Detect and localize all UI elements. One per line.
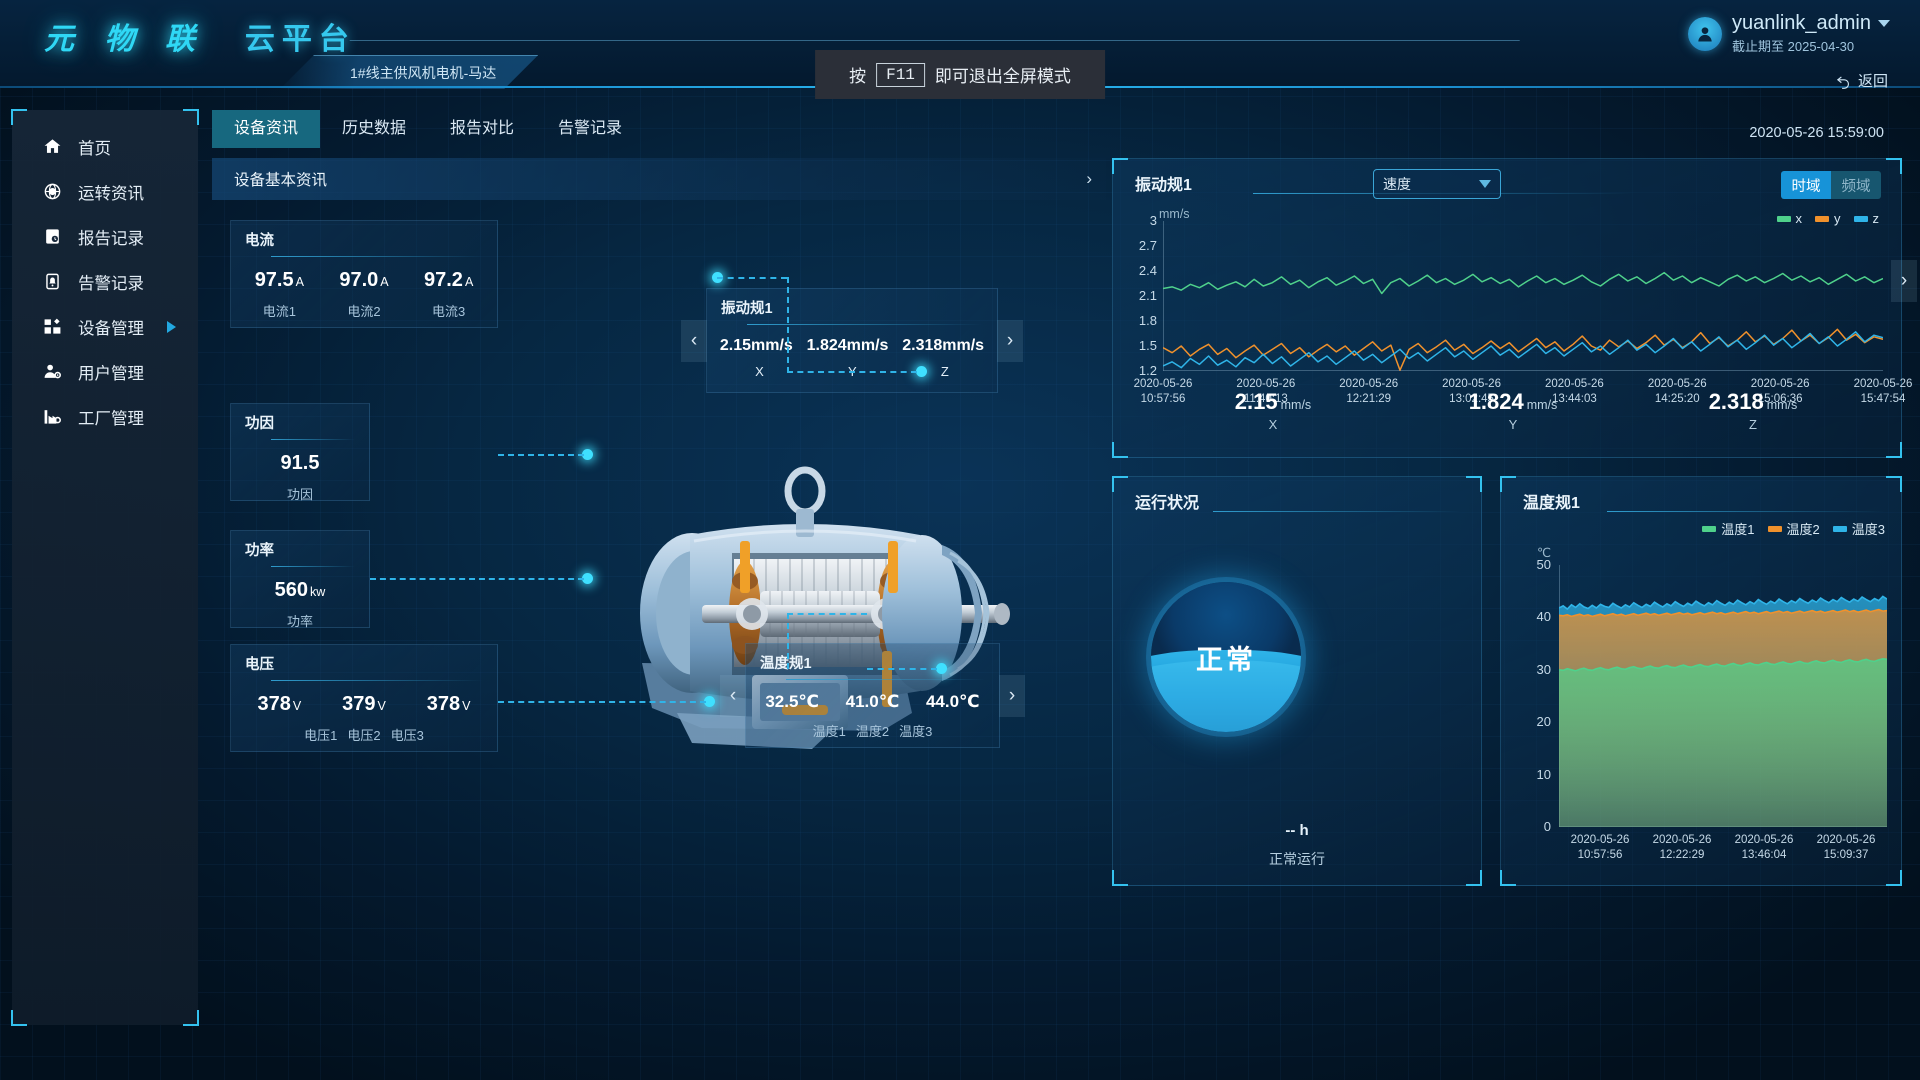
vibration-next-button[interactable]: › bbox=[997, 320, 1023, 362]
connector-line bbox=[787, 613, 789, 669]
value-unit: A bbox=[465, 275, 473, 289]
metric-labels: 电流1 电流2 电流3 bbox=[231, 292, 497, 332]
fullscreen-hint-suffix: 即可退出全屏模式 bbox=[935, 62, 1071, 87]
chevron-right-icon[interactable] bbox=[167, 321, 176, 333]
y-tick-label: 30 bbox=[1515, 662, 1551, 677]
sidebar-item-user-management[interactable]: 用户管理 bbox=[12, 349, 198, 394]
connector-line bbox=[787, 371, 917, 373]
metric-value: 44.0℃ bbox=[926, 692, 980, 712]
metric-value: 1.824mm/s bbox=[807, 337, 889, 355]
metric-values: 32.5℃ 41.0℃ 44.0℃ bbox=[746, 680, 999, 712]
sidebar-item-label: 用户管理 bbox=[78, 360, 144, 384]
y-tick-label: 3 bbox=[1119, 213, 1157, 228]
metric-labels: 功率 bbox=[231, 602, 369, 642]
corner-decoration bbox=[1112, 158, 1128, 174]
metric-values: 91.5 bbox=[231, 440, 369, 475]
device-info-title: 设备基本资讯 bbox=[234, 168, 327, 190]
return-button-label: 返回 bbox=[1858, 70, 1888, 91]
metric-label: 电压3 bbox=[391, 725, 424, 744]
summary-value: 2.318mm/s bbox=[1633, 389, 1873, 415]
temperature-prev-button[interactable]: ‹ bbox=[720, 675, 746, 717]
x-tick-label: 2020-05-2613:46:04 bbox=[1721, 833, 1807, 863]
metric-value: 2.318mm/s bbox=[902, 337, 984, 355]
sidebar-item-report-records[interactable]: 报告记录 bbox=[12, 214, 198, 259]
value-text: 378 bbox=[427, 693, 460, 715]
metric-card-power: 功率 560kw 功率 bbox=[230, 530, 370, 628]
value-unit: mm/s bbox=[1281, 398, 1312, 412]
value-text: 97.2 bbox=[424, 269, 463, 291]
y-tick-label: 2.7 bbox=[1119, 238, 1157, 253]
metric-labels: 功因 bbox=[231, 475, 369, 515]
connector-line bbox=[787, 613, 867, 615]
value-unit: kw bbox=[310, 585, 325, 599]
sidebar-item-label: 运转资讯 bbox=[78, 180, 144, 204]
corner-decoration bbox=[1112, 442, 1128, 458]
corner-decoration bbox=[1886, 870, 1902, 886]
y-tick-label: 1.5 bbox=[1119, 338, 1157, 353]
value-unit: V bbox=[378, 699, 386, 713]
metric-value: 378V bbox=[427, 693, 471, 716]
metric-label: X bbox=[755, 364, 764, 379]
metric-card-temperature: 温度规1 32.5℃ 41.0℃ 44.0℃ 温度1 温度2 温度3 ‹ › bbox=[745, 643, 1000, 748]
metric-card-vibration: 振动规1 2.15mm/s 1.824mm/s 2.318mm/s X Y Z … bbox=[706, 288, 998, 393]
dashboard-root: 元 物 联 云平台 1#线主供风机电机-马达 yuanlink_admin 截止… bbox=[0, 0, 1920, 1080]
metric-label: 电流2 bbox=[347, 301, 380, 320]
vibration-summary-z: 2.318mm/s Z bbox=[1633, 389, 1873, 432]
legend-swatch-temp1 bbox=[1702, 526, 1716, 532]
factory-gear-icon bbox=[42, 406, 63, 427]
fullscreen-hint-prefix: 按 bbox=[849, 62, 866, 87]
metric-card-power-factor: 功因 91.5 功因 bbox=[230, 403, 370, 501]
metric-label: 电压1 bbox=[304, 725, 337, 744]
metric-label: 电流3 bbox=[432, 301, 465, 320]
sidebar-item-label: 首页 bbox=[78, 135, 111, 159]
corner-decoration bbox=[1500, 870, 1516, 886]
undo-arrow-icon bbox=[1835, 72, 1852, 89]
sidebar-menu: 首页 运转资讯 报告记录 告警记录 bbox=[12, 110, 198, 439]
x-tick-label: 2020-05-2610:57:56 bbox=[1557, 833, 1643, 863]
connector-line bbox=[717, 277, 787, 279]
value-text: 97.0 bbox=[339, 269, 378, 291]
y-tick-label: 10 bbox=[1515, 767, 1551, 782]
sidebar-item-label: 工厂管理 bbox=[78, 405, 144, 429]
vibration-summary-y: 1.824mm/s Y bbox=[1393, 389, 1633, 432]
user-expiry-label: 截止期至 2025-04-30 bbox=[1732, 36, 1890, 55]
grid-blocks-icon bbox=[42, 316, 63, 337]
alarm-clipboard-icon bbox=[42, 271, 63, 292]
current-timestamp: 2020-05-26 15:59:00 bbox=[1749, 125, 1884, 141]
metric-values: 378V 379V 378V bbox=[231, 681, 497, 716]
metric-value: 91.5 bbox=[281, 452, 320, 475]
vibration-prev-button[interactable]: ‹ bbox=[681, 320, 707, 362]
status-badge: 正常 bbox=[1196, 638, 1256, 677]
measurement-type-select[interactable]: 速度 bbox=[1373, 169, 1501, 199]
corner-decoration bbox=[183, 109, 199, 125]
logo-brand-text: 元 物 联 bbox=[44, 14, 205, 58]
value-text: 560 bbox=[275, 579, 308, 601]
user-gear-icon bbox=[42, 361, 63, 382]
tab-device-info[interactable]: 设备资讯 bbox=[212, 110, 320, 148]
temperature-next-button[interactable]: › bbox=[999, 675, 1025, 717]
connector-line bbox=[787, 277, 789, 373]
running-hours: -- h bbox=[1113, 822, 1481, 839]
value-unit: A bbox=[380, 275, 388, 289]
value-text: 97.5 bbox=[255, 269, 294, 291]
metric-values: 560kw bbox=[231, 567, 369, 602]
fullscreen-hint-banner: 按 F11 即可退出全屏模式 bbox=[815, 50, 1105, 99]
legend-item: 温度2 bbox=[1768, 519, 1820, 538]
sidebar-item-label: 告警记录 bbox=[78, 270, 144, 294]
metric-card-current: 电流 97.5A 97.0A 97.2A 电流1 电流2 电流3 bbox=[230, 220, 498, 328]
metric-card-title: 电压 bbox=[231, 645, 497, 674]
tab-alarm-records[interactable]: 告警记录 bbox=[536, 110, 644, 148]
corner-decoration bbox=[1500, 476, 1516, 492]
metric-labels: 电压1 电压2 电压3 bbox=[231, 716, 497, 756]
running-caption: 正常运行 bbox=[1113, 849, 1481, 869]
caret-down-icon[interactable] bbox=[1479, 180, 1491, 188]
x-tick-label: 2020-05-2612:22:29 bbox=[1639, 833, 1725, 863]
metric-value: 2.15mm/s bbox=[720, 337, 793, 355]
tab-history-data[interactable]: 历史数据 bbox=[320, 110, 428, 148]
device-info-header[interactable]: 设备基本资讯 › bbox=[212, 158, 1106, 200]
metric-value: 97.5A bbox=[255, 269, 304, 292]
y-tick-label: 1.8 bbox=[1119, 313, 1157, 328]
temperature-area-chart bbox=[1559, 565, 1887, 827]
value-unit: A bbox=[296, 275, 304, 289]
breadcrumb: 1#线主供风机电机-马达 bbox=[280, 55, 538, 89]
sidebar: 首页 运转资讯 报告记录 告警记录 bbox=[12, 110, 198, 1025]
metric-value: 32.5℃ bbox=[765, 692, 819, 712]
corner-decoration bbox=[1886, 158, 1902, 174]
chevron-right-icon[interactable]: › bbox=[1086, 169, 1092, 189]
connector-dot bbox=[936, 663, 947, 674]
value-unit: mm/s bbox=[1767, 398, 1798, 412]
tab-report-compare[interactable]: 报告对比 bbox=[428, 110, 536, 148]
value-unit: mm/s bbox=[1527, 398, 1558, 412]
summary-value: 2.15mm/s bbox=[1153, 389, 1393, 415]
y-tick-label: 2.4 bbox=[1119, 263, 1157, 278]
metric-values: 97.5A 97.0A 97.2A bbox=[231, 257, 497, 292]
metric-label: 电流1 bbox=[263, 301, 296, 320]
title-rule bbox=[1607, 511, 1885, 512]
globe-icon bbox=[42, 181, 63, 202]
sidebar-item-home[interactable]: 首页 bbox=[12, 124, 198, 169]
value-text: 2.15 bbox=[1235, 389, 1278, 414]
return-button[interactable]: 返回 bbox=[1835, 70, 1888, 91]
value-text: 378 bbox=[257, 693, 290, 715]
summary-axis-label: Y bbox=[1393, 417, 1633, 432]
corner-decoration bbox=[1886, 442, 1902, 458]
user-name-row[interactable]: yuanlink_admin bbox=[1732, 12, 1890, 35]
sidebar-item-operation-info[interactable]: 运转资讯 bbox=[12, 169, 198, 214]
metric-label: 功率 bbox=[287, 611, 313, 630]
metric-labels: X Y Z bbox=[707, 355, 997, 391]
temperature-chart-legend: 温度1 温度2 温度3 bbox=[1702, 519, 1885, 538]
metric-card-title: 电流 bbox=[231, 221, 497, 250]
metric-card-voltage: 电压 378V 379V 378V 电压1 电压2 电压3 bbox=[230, 644, 498, 752]
value-unit: V bbox=[293, 699, 301, 713]
temperature-panel-title: 温度规1 bbox=[1523, 489, 1580, 513]
legend-label: 温度2 bbox=[1787, 519, 1820, 538]
value-text: 379 bbox=[342, 693, 375, 715]
legend-label: 温度3 bbox=[1852, 519, 1885, 538]
content-tabs: 设备资讯 历史数据 报告对比 告警记录 bbox=[212, 110, 644, 148]
summary-value: 1.824mm/s bbox=[1393, 389, 1633, 415]
metric-values: 2.15mm/s 1.824mm/s 2.318mm/s bbox=[707, 325, 997, 355]
connector-line bbox=[498, 701, 706, 703]
vibration-chart-panel: 振动规1 速度 时域 频域 x y z mm/s 1.21.51.82.12.4… bbox=[1112, 158, 1902, 458]
chevron-down-icon[interactable] bbox=[1878, 20, 1890, 27]
measurement-type-value: 速度 bbox=[1383, 174, 1411, 194]
y-tick-label: 1.2 bbox=[1119, 363, 1157, 378]
device-info-panel: 设备基本资讯 › bbox=[212, 158, 1106, 1038]
metric-card-title: 振动规1 bbox=[707, 289, 997, 318]
home-icon bbox=[42, 136, 63, 157]
legend-swatch-temp3 bbox=[1833, 526, 1847, 532]
value-text: 2.318 bbox=[1709, 389, 1764, 414]
logo-platform-text: 云平台 bbox=[245, 14, 356, 58]
sidebar-item-label: 设备管理 bbox=[78, 315, 144, 339]
connector-dot bbox=[916, 366, 927, 377]
status-gauge: 正常 bbox=[1151, 582, 1301, 732]
value-unit: V bbox=[462, 699, 470, 713]
metric-label: 温度3 bbox=[899, 721, 932, 740]
metric-value: 378V bbox=[257, 693, 301, 716]
metric-label: Z bbox=[941, 364, 949, 379]
sidebar-item-alarm-records[interactable]: 告警记录 bbox=[12, 259, 198, 304]
metric-label: 温度1 bbox=[813, 721, 846, 740]
y-tick-label: 40 bbox=[1515, 609, 1551, 624]
metric-value: 379V bbox=[342, 693, 386, 716]
domain-toggle-group: 时域 频域 bbox=[1781, 171, 1881, 199]
operating-status-panel: 运行状况 正常 -- h 正常运行 bbox=[1112, 476, 1482, 886]
legend-item: 温度1 bbox=[1702, 519, 1754, 538]
x-tick-label: 2020-05-2615:09:37 bbox=[1803, 833, 1889, 863]
vibration-panel-title: 振动规1 bbox=[1135, 171, 1192, 195]
connector-line bbox=[370, 578, 584, 580]
toggle-time-domain[interactable]: 时域 bbox=[1781, 171, 1831, 199]
vibration-chart-next-button[interactable]: › bbox=[1891, 260, 1917, 302]
report-clock-icon bbox=[42, 226, 63, 247]
corner-decoration bbox=[1112, 870, 1128, 886]
y-tick-label: 20 bbox=[1515, 714, 1551, 729]
vibration-summary-x: 2.15mm/s X bbox=[1153, 389, 1393, 432]
corner-decoration bbox=[1466, 476, 1482, 492]
value-text: 1.824 bbox=[1469, 389, 1524, 414]
user-menu[interactable]: yuanlink_admin 截止期至 2025-04-30 bbox=[1688, 12, 1890, 55]
metric-labels: 温度1 温度2 温度3 bbox=[746, 712, 999, 752]
corner-decoration bbox=[1466, 870, 1482, 886]
legend-swatch-temp2 bbox=[1768, 526, 1782, 532]
temperature-chart-panel: 温度规1 温度1 温度2 温度3 ℃ 01020304050 2020-05-2… bbox=[1500, 476, 1902, 886]
toggle-frequency-domain[interactable]: 频域 bbox=[1831, 171, 1881, 199]
metric-value: 97.2A bbox=[424, 269, 473, 292]
legend-label: 温度1 bbox=[1721, 519, 1754, 538]
metric-value: 41.0℃ bbox=[846, 692, 900, 712]
corner-decoration bbox=[1112, 476, 1128, 492]
vibration-y-axis-unit: mm/s bbox=[1159, 207, 1190, 221]
metric-label: 温度2 bbox=[856, 721, 889, 740]
title-rule bbox=[1213, 511, 1461, 512]
y-tick-label: 50 bbox=[1515, 557, 1551, 572]
corner-decoration bbox=[1886, 476, 1902, 492]
corner-decoration bbox=[11, 109, 27, 125]
sidebar-item-device-management[interactable]: 设备管理 bbox=[12, 304, 198, 349]
connector-line bbox=[498, 454, 584, 456]
y-tick-label: 2.1 bbox=[1119, 288, 1157, 303]
avatar bbox=[1688, 17, 1722, 51]
legend-item: 温度3 bbox=[1833, 519, 1885, 538]
metric-card-title: 功因 bbox=[231, 404, 369, 433]
sidebar-item-label: 报告记录 bbox=[78, 225, 144, 249]
metric-card-title: 功率 bbox=[231, 531, 369, 560]
connector-line bbox=[867, 668, 937, 670]
fullscreen-hint-key: F11 bbox=[876, 63, 925, 87]
sidebar-item-factory-management[interactable]: 工厂管理 bbox=[12, 394, 198, 439]
breadcrumb-text: 1#线主供风机电机-马达 bbox=[350, 63, 496, 83]
user-name-label: yuanlink_admin bbox=[1732, 12, 1871, 35]
vibration-summary-row: 2.15mm/s X 1.824mm/s Y 2.318mm/s Z bbox=[1153, 389, 1873, 432]
app-logo: 元 物 联 云平台 bbox=[44, 14, 356, 58]
metric-value: 97.0A bbox=[339, 269, 388, 292]
metric-label: 电压2 bbox=[347, 725, 380, 744]
y-tick-label: 0 bbox=[1515, 819, 1551, 834]
summary-axis-label: X bbox=[1153, 417, 1393, 432]
corner-decoration bbox=[11, 1010, 27, 1026]
summary-axis-label: Z bbox=[1633, 417, 1873, 432]
corner-decoration bbox=[183, 1010, 199, 1026]
metric-value: 560kw bbox=[275, 579, 326, 602]
status-panel-title: 运行状况 bbox=[1135, 489, 1199, 513]
vibration-line-chart bbox=[1163, 221, 1883, 371]
metric-label: 功因 bbox=[287, 484, 313, 503]
